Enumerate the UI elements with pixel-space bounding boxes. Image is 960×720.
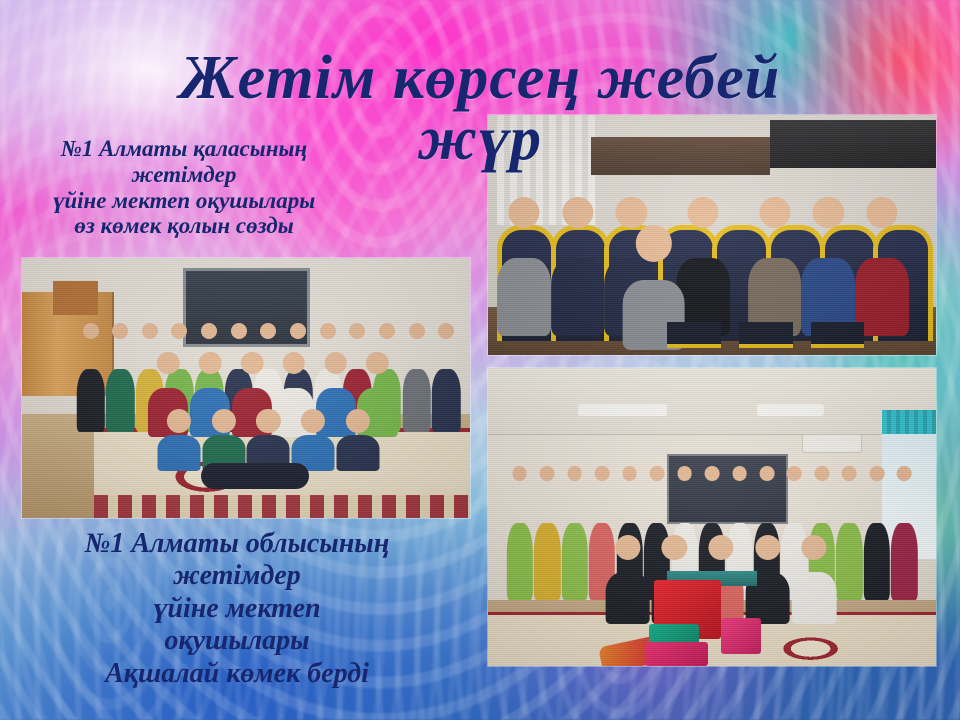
caption-top-line-1: №1 Алматы қаласының <box>0 136 368 162</box>
caption-top-line-3: үйіне мектеп оқушылары <box>0 188 368 214</box>
photo-person <box>533 466 560 600</box>
slide-title-line-1: Жетім көрсең жебей <box>180 44 780 112</box>
photo-child <box>748 197 802 336</box>
caption-top: №1 Алматы қаласының жетімдер үйіне мекте… <box>0 136 368 239</box>
photo-window-blind <box>882 410 936 434</box>
photo-air-conditioner <box>802 434 862 454</box>
photo-person <box>891 466 918 600</box>
photo-person-lying <box>201 463 309 489</box>
photo-person <box>201 409 246 471</box>
photo-person <box>431 323 461 432</box>
photo-gift-pink <box>721 618 761 654</box>
caption-bottom-line-4: оқушылары <box>8 625 466 657</box>
photo-child <box>551 197 605 336</box>
photo-person <box>76 323 106 432</box>
photo-person <box>791 535 838 624</box>
photo-person <box>336 409 381 471</box>
photo-person <box>561 466 588 600</box>
photo-classroom-group <box>22 258 470 518</box>
photo-group-with-gifts <box>488 368 936 666</box>
caption-bottom-line-5: Ақшалай көмек берді <box>8 658 466 690</box>
photo-cabinet-2 <box>53 281 98 315</box>
photo-person <box>836 466 863 600</box>
photo-people-front-row <box>156 409 380 471</box>
photo-chair-seat <box>811 322 865 348</box>
caption-bottom-line-3: үйіне мектеп <box>8 593 466 625</box>
presentation-slide: Жетім көрсең жебей жүр №1 Алматы қаласын… <box>0 0 960 720</box>
photo-gift-pink-2 <box>645 642 708 666</box>
photo-chair-seat <box>667 322 721 348</box>
photo-child <box>497 197 551 336</box>
caption-bottom-line-1: №1 Алматы облысының <box>8 528 466 560</box>
photo-person <box>863 466 890 600</box>
caption-bottom-line-2: жетімдер <box>8 560 466 592</box>
photo-ceiling <box>488 368 936 435</box>
photo-person <box>246 409 291 471</box>
photo-ceiling-light <box>578 404 668 416</box>
photo-person <box>105 323 135 432</box>
photo-person <box>156 409 201 471</box>
photo-ceiling-light <box>757 404 824 416</box>
photo-chair-seat <box>739 322 793 348</box>
photo-carpet-border <box>94 495 470 518</box>
caption-top-line-2: жетімдер <box>0 162 368 188</box>
photo-person <box>291 409 336 471</box>
photo-person <box>402 323 432 432</box>
photo-child <box>802 197 856 336</box>
photo-child <box>855 197 909 336</box>
photo-person <box>604 535 651 624</box>
caption-bottom: №1 Алматы облысының жетімдер үйіне мекте… <box>8 528 466 690</box>
caption-top-line-4: өз көмек қолын сөзды <box>0 213 368 239</box>
photo-person <box>506 466 533 600</box>
